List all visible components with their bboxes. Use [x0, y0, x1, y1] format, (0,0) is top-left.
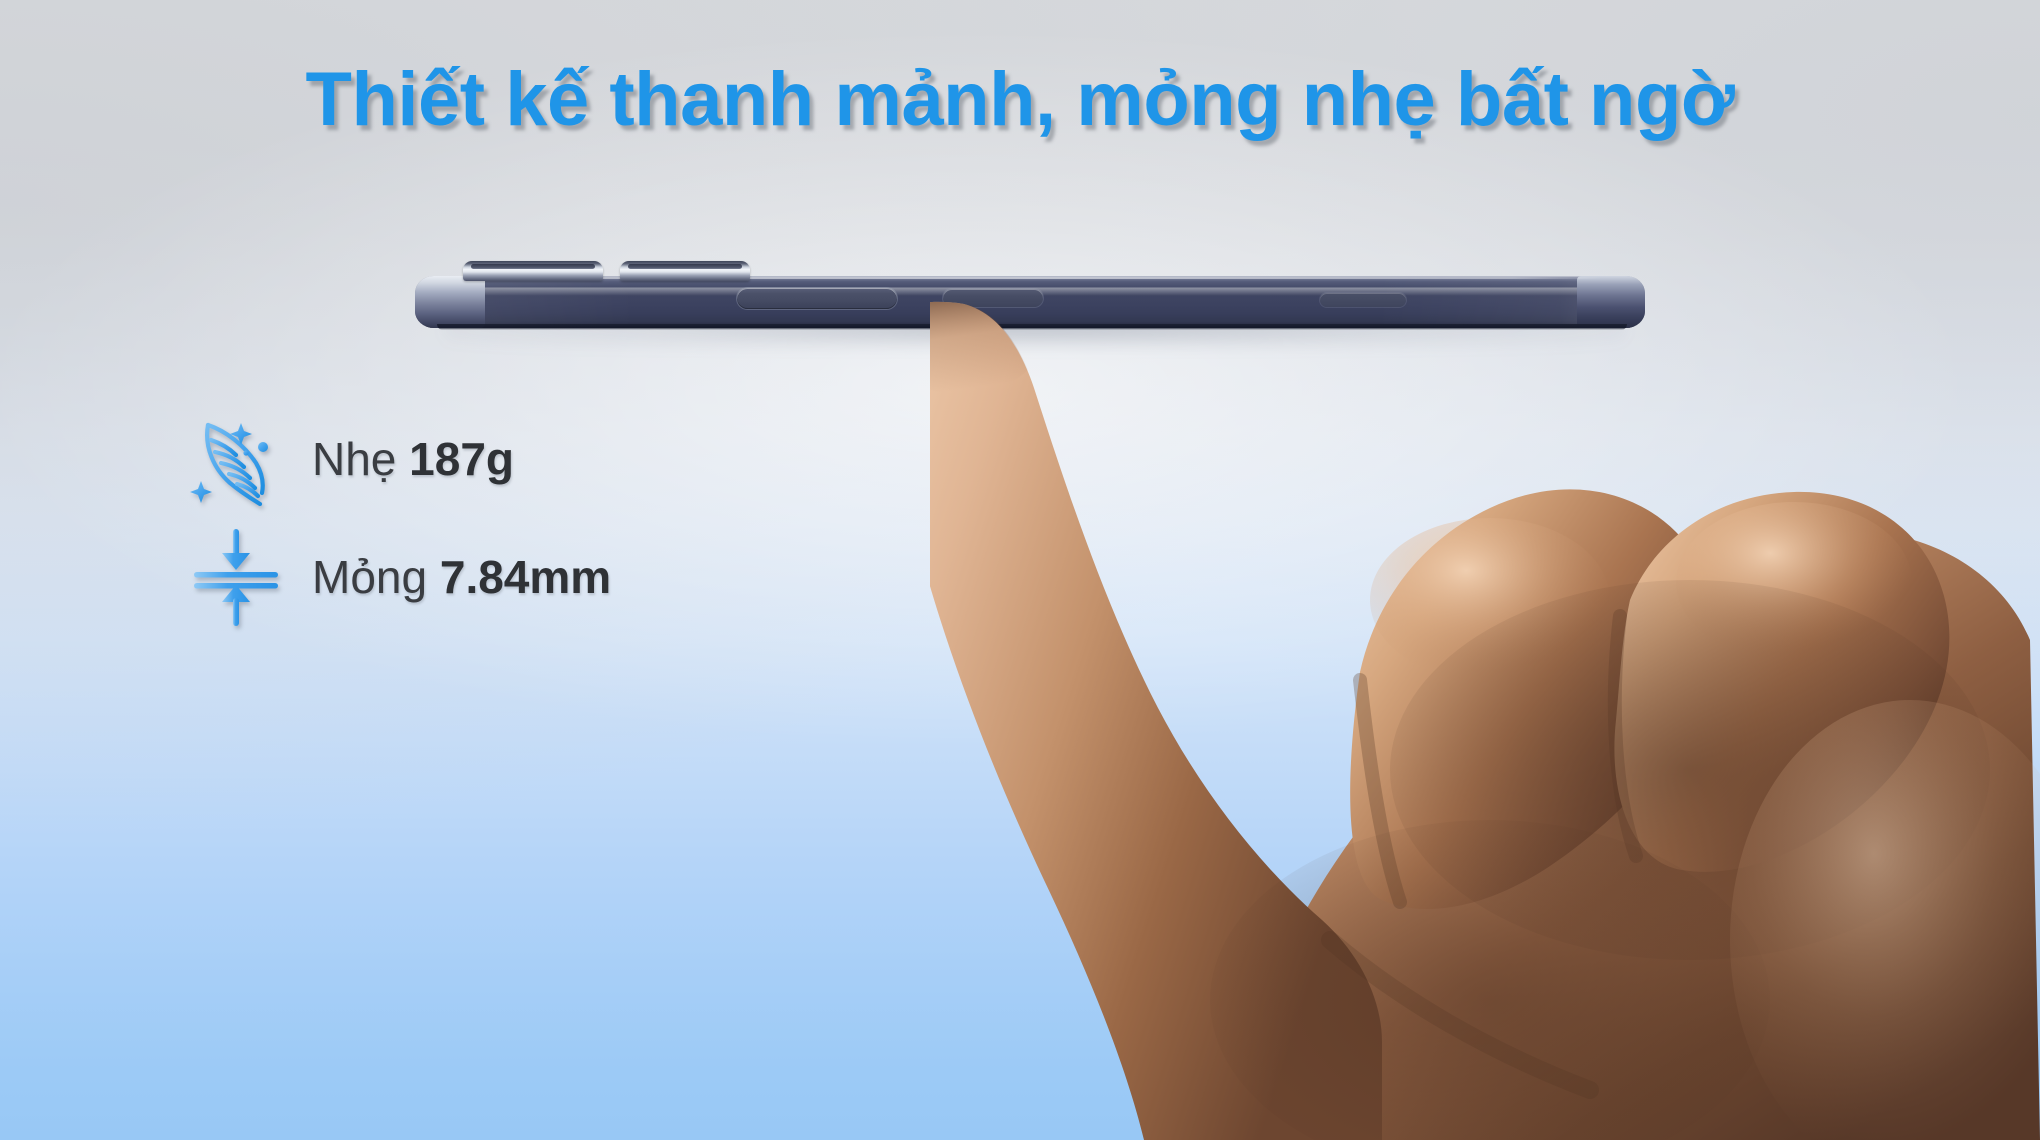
sparkle-2: [190, 481, 212, 503]
phone-right-chamfer: [1577, 276, 1645, 328]
sparkle-1: [230, 423, 252, 445]
camera-ring-2-inner: [628, 264, 742, 269]
thickness-arrow-down-shaft: [233, 529, 239, 557]
feature-row-thickness: Mỏng 7.84mm: [182, 518, 802, 636]
antenna-slot: [1320, 293, 1406, 307]
feature-label-thickness: Mỏng 7.84mm: [312, 550, 611, 604]
phone-screen-edge: [437, 324, 1627, 330]
feather-icon: [182, 405, 290, 513]
camera-ring-1-icon: [463, 261, 603, 281]
feature-label-text: Mỏng: [312, 551, 427, 603]
feature-label-text: Nhẹ: [312, 433, 396, 485]
camera-ring-1-inner: [471, 264, 595, 269]
sparkle-dot-2: [243, 450, 248, 455]
feature-label-weight: Nhẹ 187g: [312, 432, 514, 486]
thickness-arrow-down-head: [222, 553, 250, 570]
promo-banner: Thiết kế thanh mảnh, mỏng nhẹ bất ngờ: [0, 0, 2040, 1140]
feature-value-text: 7.84mm: [440, 551, 611, 603]
thickness-arrows-icon: [182, 523, 290, 631]
camera-ring-2-icon: [620, 261, 750, 281]
product-image-phone: [415, 262, 1645, 352]
sparkle-dot-1: [258, 442, 268, 452]
volume-button: [943, 289, 1043, 307]
feature-row-weight: Nhẹ 187g: [182, 400, 802, 518]
thickness-line-top: [194, 572, 278, 578]
page-title: Thiết kế thanh mảnh, mỏng nhẹ bất ngờ: [0, 55, 2040, 145]
feature-value-text: 187g: [409, 433, 514, 485]
feature-list: Nhẹ 187g: [182, 400, 802, 636]
phone-left-chamfer: [415, 276, 485, 328]
power-button: [737, 288, 897, 309]
thickness-arrow-up-shaft: [233, 598, 239, 626]
